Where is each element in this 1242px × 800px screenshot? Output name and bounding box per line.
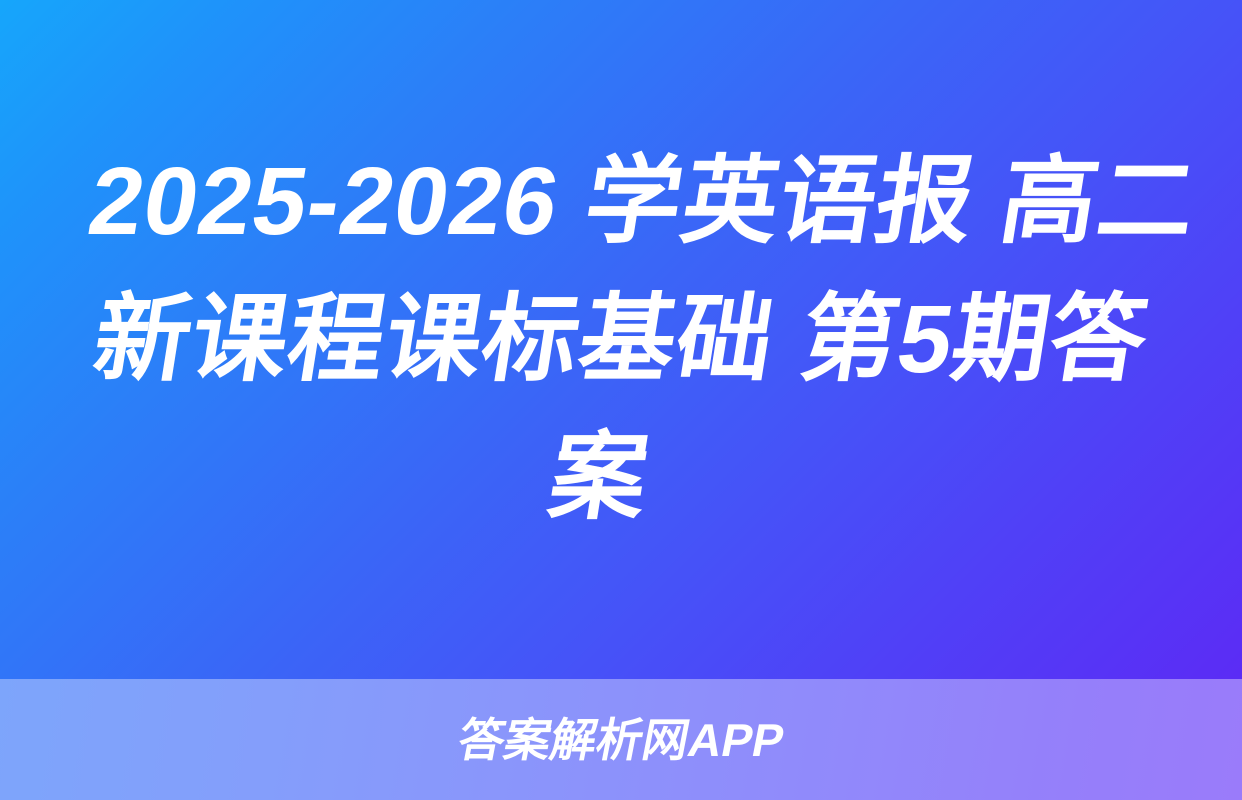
app-watermark-label: 答案解析网APP bbox=[454, 714, 789, 766]
footer-watermark-band: 答案解析网APP bbox=[0, 679, 1242, 800]
page-title: 2025-2026 学英语报 高二 新课程课标基础 第5期答案 bbox=[27, 133, 1215, 547]
poster-canvas: 2025-2026 学英语报 高二 新课程课标基础 第5期答案 答案解析网APP bbox=[0, 0, 1242, 800]
headline-area: 2025-2026 学英语报 高二 新课程课标基础 第5期答案 bbox=[0, 0, 1242, 679]
